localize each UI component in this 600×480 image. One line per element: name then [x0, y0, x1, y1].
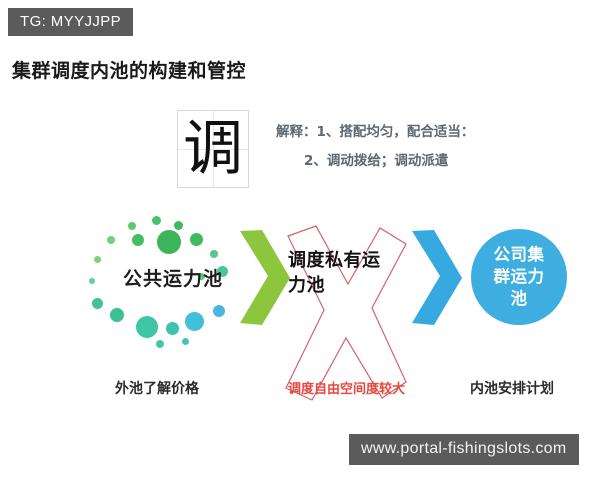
- cluster-dot: [92, 298, 103, 309]
- cluster-dot: [136, 316, 158, 338]
- telegram-handle-badge: TG: MYYJJPP: [8, 8, 133, 36]
- stage-right-label-line3: 池: [511, 289, 528, 308]
- cluster-dot: [107, 236, 115, 244]
- cluster-dot: [132, 234, 144, 246]
- cluster-dot: [157, 230, 181, 254]
- cluster-dot: [166, 322, 179, 335]
- process-diagram: 公共运力池 调度私有运 力池 公司集 群运力 池 外池了解价格 调度自由空间度较: [0, 196, 600, 426]
- cluster-dot: [156, 340, 164, 348]
- cluster-dot: [185, 312, 204, 331]
- cluster-dot: [190, 233, 203, 246]
- cluster-dot: [174, 221, 183, 230]
- cluster-dot: [110, 308, 124, 322]
- cluster-dot: [94, 256, 101, 263]
- blue-chevron-icon: [408, 229, 466, 327]
- explanation-block: 解释：1、搭配均匀，配合适当： 2、调动拨给；调动派遣: [276, 118, 474, 176]
- slide-canvas: TG: MYYJJPP 集群调度内池的构建和管控 调 解释：1、搭配均匀，配合适…: [0, 0, 600, 480]
- hanzi-grid-box: 调: [177, 110, 249, 188]
- cluster-dot: [213, 305, 225, 317]
- cluster-dot: [152, 216, 161, 225]
- site-watermark: www.portal-fishingslots.com: [349, 434, 579, 465]
- stage-middle-label-line2: 力池: [288, 275, 325, 296]
- stage-right-circle: 公司集 群运力 池: [471, 229, 567, 325]
- explanation-line-2: 2、调动拨给；调动派遣: [304, 147, 474, 176]
- hanzi-character: 调: [178, 111, 248, 187]
- cluster-dot: [182, 338, 189, 345]
- cluster-dot: [210, 250, 218, 258]
- stage-middle-label-line1: 调度私有运: [288, 250, 381, 271]
- stage-left-caption: 外池了解价格: [115, 378, 199, 398]
- stage-middle-caption: 调度自由空间度较大: [288, 378, 405, 397]
- stage-left-label: 公共运力池: [98, 264, 248, 291]
- explanation-line-1: 解释：1、搭配均匀，配合适当：: [276, 124, 474, 140]
- stage-right-label: 公司集 群运力 池: [494, 244, 545, 310]
- cluster-dot: [128, 222, 136, 230]
- stage-right-label-line1: 公司集: [494, 245, 545, 264]
- stage-right-caption: 内池安排计划: [470, 378, 554, 398]
- page-title: 集群调度内池的构建和管控: [12, 56, 246, 83]
- cluster-dot: [89, 278, 95, 284]
- stage-middle-label: 调度私有运 力池: [288, 248, 408, 298]
- stage-right-label-line2: 群运力: [494, 267, 545, 286]
